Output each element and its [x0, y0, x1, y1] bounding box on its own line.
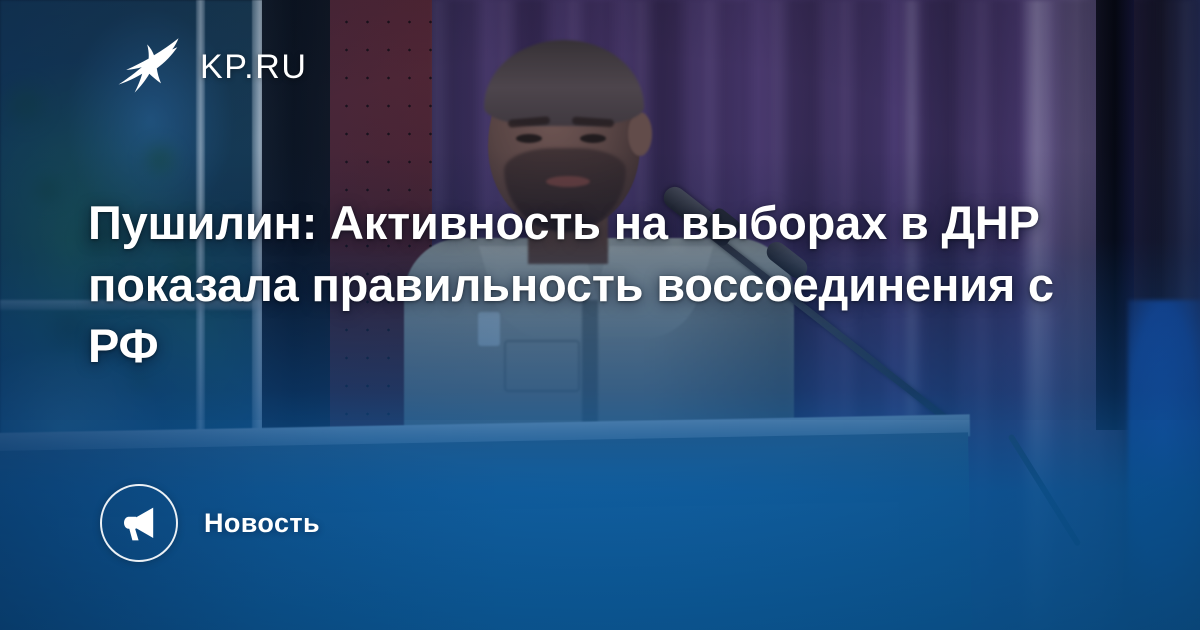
badge-circle — [100, 484, 178, 562]
brand-logo[interactable]: KP.RU — [112, 36, 308, 98]
page-title: Пушилин: Активность на выборах в ДНР пок… — [88, 192, 1088, 377]
badge-label: Новость — [204, 508, 320, 539]
card-content: KP.RU Пушилин: Активность на выборах в Д… — [0, 0, 1200, 630]
news-share-card: KP.RU Пушилин: Активность на выборах в Д… — [0, 0, 1200, 630]
megaphone-icon — [119, 503, 159, 543]
brand-name: KP.RU — [200, 50, 308, 84]
swallow-bird-icon — [112, 36, 182, 98]
status-badge[interactable]: Новость — [100, 484, 320, 562]
